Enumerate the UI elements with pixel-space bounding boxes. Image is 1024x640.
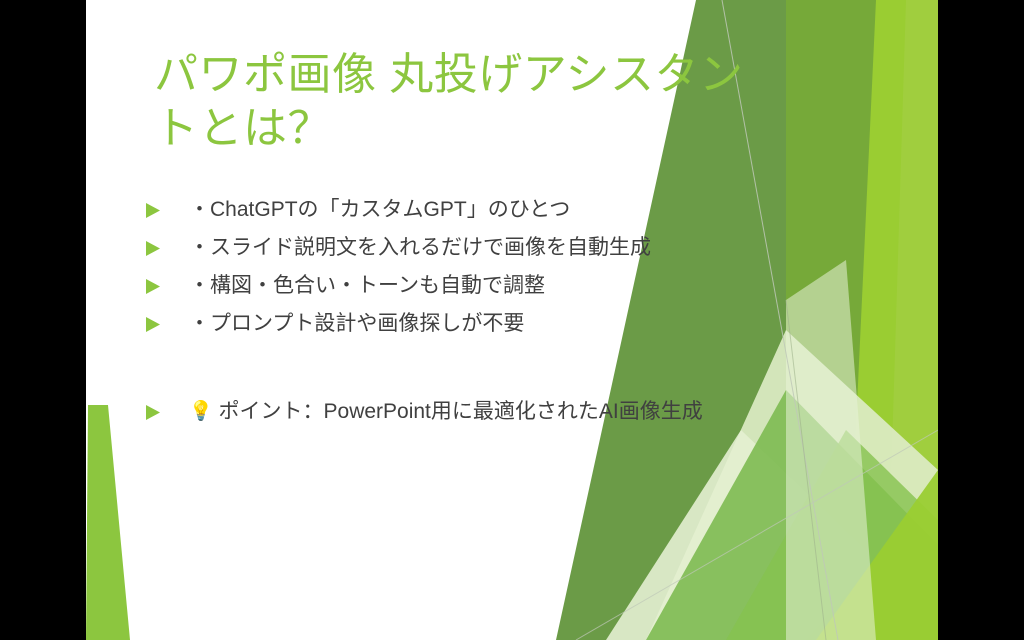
bullet-text: ポイント：PowerPoint用に最適化されたAI画像生成 xyxy=(213,399,866,425)
bullet-item-highlight: 💡 ポイント：PowerPoint用に最適化されたAI画像生成 xyxy=(146,399,866,437)
hairline-diagonal-lower xyxy=(576,430,938,640)
bullet-text: ・スライド説明文を入れるだけで画像を自動生成 xyxy=(189,235,866,261)
bullet-item: ・スライド説明文を入れるだけで画像を自動生成 xyxy=(146,235,866,273)
bullet-item: ・構図・色合い・トーンも自動で調整 xyxy=(146,273,866,311)
right-outer-bright-band xyxy=(886,0,938,640)
triangle-right-bullet-icon xyxy=(146,317,160,332)
bullet-text: ・構図・色合い・トーンも自動で調整 xyxy=(189,273,866,299)
bullet-list: ・ChatGPTの「カスタムGPT」のひとつ ・スライド説明文を入れるだけで画像… xyxy=(146,197,866,437)
mid-facet-lower-2 xyxy=(726,430,938,640)
bullet-text: ・ChatGPTの「カスタムGPT」のひとつ xyxy=(189,197,866,223)
bullet-item: ・プロンプト設計や画像探しが不要 xyxy=(146,311,866,349)
triangle-right-bullet-icon xyxy=(146,203,160,218)
slide-canvas: パワポ画像 丸投げアシスタントとは？ ・ChatGPTの「カスタムGPT」のひと… xyxy=(86,0,938,640)
triangle-right-bullet-icon xyxy=(146,405,160,420)
bullet-item: ・ChatGPTの「カスタムGPT」のひとつ xyxy=(146,197,866,235)
slide-title: パワポ画像 丸投げアシスタントとは？ xyxy=(154,48,754,155)
left-green-wedge xyxy=(86,405,130,640)
triangle-right-bullet-icon xyxy=(146,241,160,256)
lightbulb-icon: 💡 xyxy=(189,399,213,425)
triangle-right-bullet-icon xyxy=(146,279,160,294)
pale-facet-left xyxy=(606,430,876,640)
bright-facet-bottom xyxy=(816,470,938,640)
slide-viewer: パワポ画像 丸投げアシスタントとは？ ・ChatGPTの「カスタムGPT」のひと… xyxy=(0,0,1024,640)
bullet-text: ・プロンプト設計や画像探しが不要 xyxy=(189,311,866,337)
